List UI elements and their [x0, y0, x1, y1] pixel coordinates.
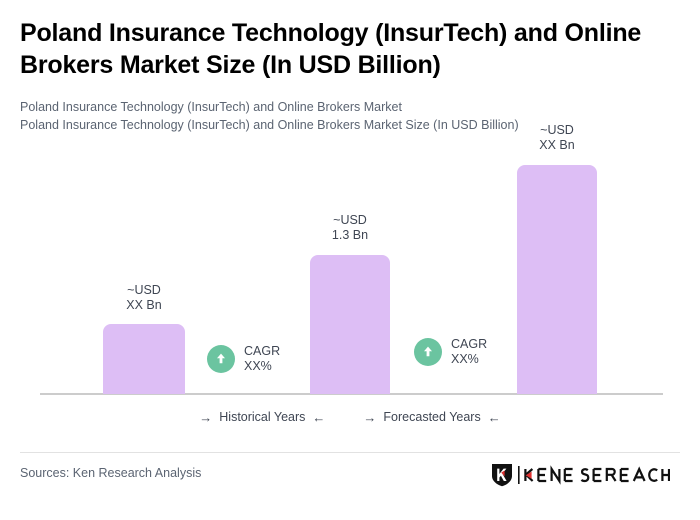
- arrow-right-icon: →: [199, 411, 212, 424]
- period-label-historical: Historical Years: [219, 410, 305, 424]
- cagr-text-2: CAGR XX%: [451, 337, 487, 366]
- ken-research-shield-icon: [491, 463, 513, 487]
- arrow-up-icon: [207, 345, 235, 373]
- period-historical-years: → Historical Years ←: [199, 410, 325, 424]
- axis-period-legend: → Historical Years ← → Forecasted Years …: [0, 410, 700, 424]
- chart-plot-area: ~USD XX Bn ~USD 1.3 Bn ~USD XX Bn CAGR X…: [0, 0, 700, 400]
- bar-value-amount-2: 1.3 Bn: [310, 228, 390, 243]
- footer-divider: [20, 452, 680, 453]
- cagr-badge-1: CAGR XX%: [207, 344, 280, 373]
- ken-research-wordmark: [518, 465, 670, 485]
- cagr-label-2: CAGR: [451, 337, 487, 352]
- sources-text: Sources: Ken Research Analysis: [20, 466, 201, 480]
- bar-value-currency-3: ~USD: [517, 123, 597, 138]
- arrow-left-icon: ←: [312, 411, 325, 424]
- chart-page: Poland Insurance Technology (InsurTech) …: [0, 0, 700, 520]
- arrow-left-icon: ←: [488, 411, 501, 424]
- arrow-right-icon: →: [363, 411, 376, 424]
- cagr-value-1: XX%: [244, 359, 280, 374]
- cagr-text-1: CAGR XX%: [244, 344, 280, 373]
- bar-value-label-1: ~USD XX Bn: [103, 283, 185, 313]
- bar-value-amount-1: XX Bn: [103, 298, 185, 313]
- bar-value-currency-2: ~USD: [310, 213, 390, 228]
- arrow-up-icon: [414, 338, 442, 366]
- bar-base-year[interactable]: [310, 255, 390, 394]
- brand-logo: [491, 463, 670, 487]
- period-forecasted-years: → Forecasted Years ←: [363, 410, 500, 424]
- cagr-label-1: CAGR: [244, 344, 280, 359]
- bar-historical[interactable]: [103, 324, 185, 394]
- bar-value-currency-1: ~USD: [103, 283, 185, 298]
- bar-value-label-2: ~USD 1.3 Bn: [310, 213, 390, 243]
- bar-value-label-3: ~USD XX Bn: [517, 123, 597, 153]
- bar-forecast[interactable]: [517, 165, 597, 394]
- bar-value-amount-3: XX Bn: [517, 138, 597, 153]
- cagr-value-2: XX%: [451, 352, 487, 367]
- cagr-badge-2: CAGR XX%: [414, 337, 487, 366]
- period-label-forecasted: Forecasted Years: [383, 410, 480, 424]
